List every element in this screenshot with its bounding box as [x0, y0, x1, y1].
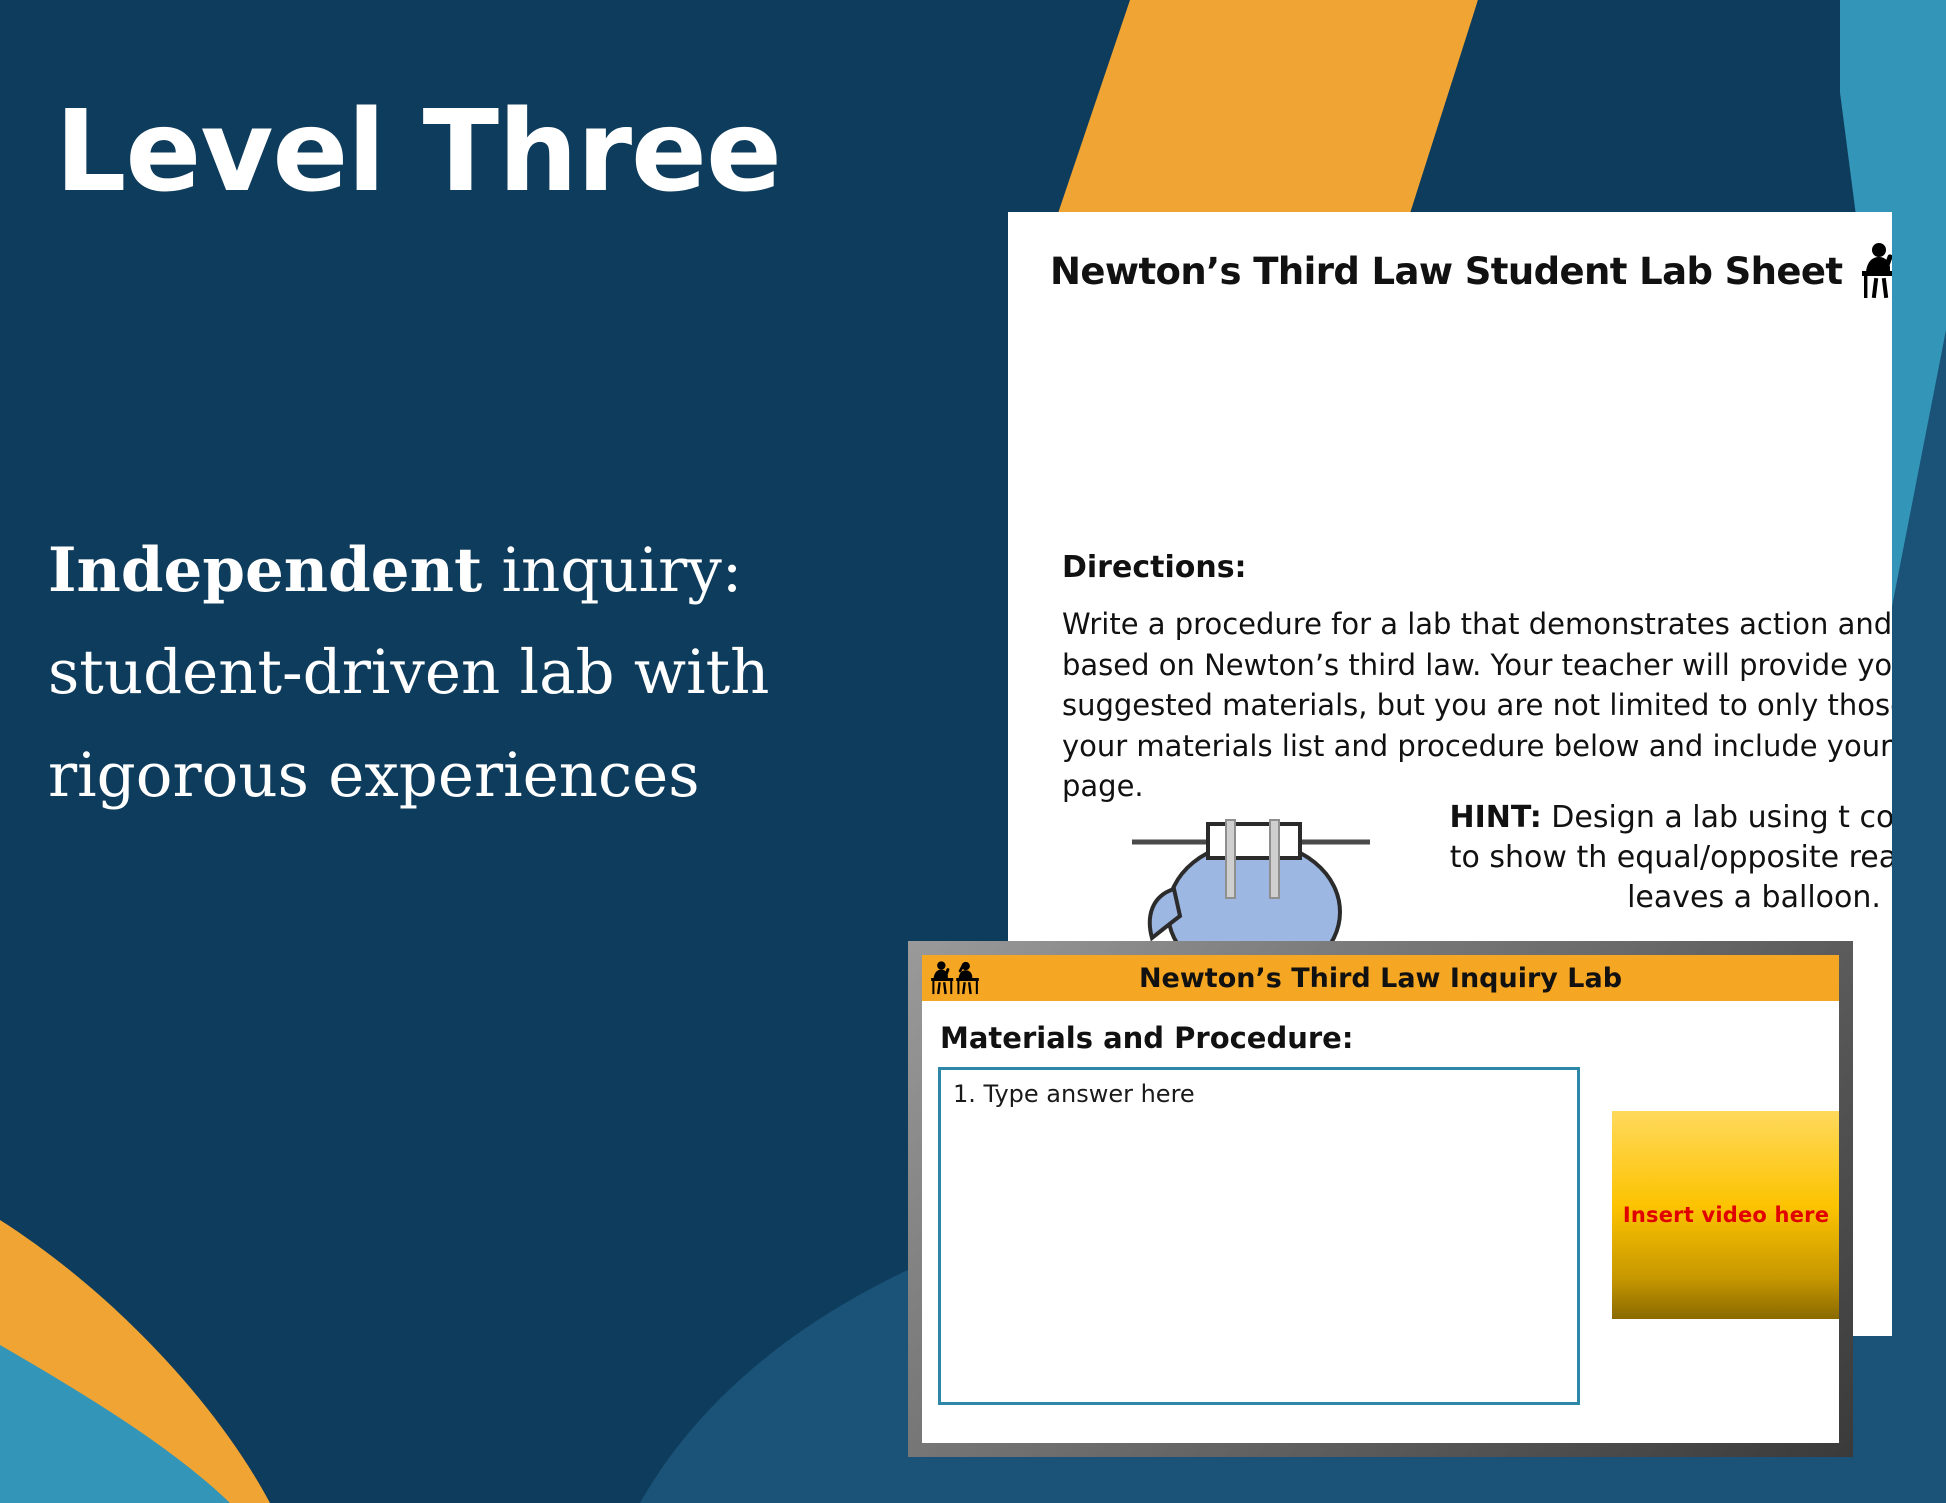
lab-sheet-title: Newton’s Third Law Student Lab Sheet — [1050, 250, 1842, 293]
hint-text: HINT: Design a lab using t configuration… — [1444, 798, 1892, 918]
lab-sheet-header: Newton’s Third Law Student Lab Sheet — [1050, 240, 1878, 302]
answer-placeholder-text: 1. Type answer here — [953, 1080, 1577, 1108]
slide-canvas: Level Three Independent inquiry: student… — [0, 0, 1946, 1503]
students-at-desks-icon — [930, 959, 980, 997]
directions-label: Directions: — [1062, 550, 1247, 585]
students-at-desks-icon — [1860, 240, 1892, 302]
materials-and-procedure-label: Materials and Procedure: — [940, 1021, 1353, 1055]
answer-input-box[interactable]: 1. Type answer here — [938, 1067, 1580, 1405]
body-copy-emphasis: Independent — [48, 535, 482, 606]
slide-body-copy: Independent inquiry: student-driven lab … — [48, 520, 908, 827]
directions-body-text: Write a procedure for a lab that demonst… — [1062, 604, 1892, 807]
video-placeholder-box[interactable]: Insert video here — [1612, 1111, 1839, 1319]
inquiry-lab-inner: Newton’s Third Law Inquiry Lab Materials… — [922, 955, 1839, 1443]
inquiry-lab-title: Newton’s Third Law Inquiry Lab — [922, 963, 1839, 994]
hint-prefix: HINT: — [1450, 800, 1542, 835]
video-placeholder-label: Insert video here — [1623, 1203, 1829, 1227]
inquiry-lab-panel: Newton’s Third Law Inquiry Lab Materials… — [908, 941, 1853, 1457]
slide-headline: Level Three — [55, 96, 781, 208]
inquiry-lab-titlebar: Newton’s Third Law Inquiry Lab — [922, 955, 1839, 1001]
